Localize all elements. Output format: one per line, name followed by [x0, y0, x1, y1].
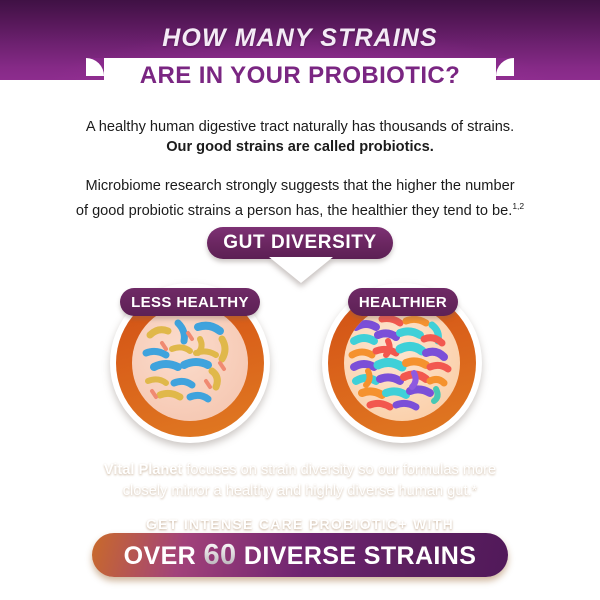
infographic-page: HOW MANY STRAINS ARE IN YOUR PROBIOTIC? … [0, 0, 600, 600]
footer-copy-line-one: Vital Planet focuses on strain diversity… [55, 460, 545, 481]
headline-bottom: ARE IN YOUR PROBIOTIC? [104, 62, 496, 90]
paragraph-two-line-one: Microbiome research strongly suggests th… [30, 176, 570, 196]
footer-copy: Vital Planet focuses on strain diversity… [55, 460, 545, 502]
dish-contents-right [344, 305, 460, 421]
paragraph-one-bold: Our good strains are called probiotics. [166, 139, 434, 155]
cta-kicker: GET INTENSE CARE PROBIOTIC+ WITH [60, 516, 540, 532]
cta-text-after: DIVERSE STRAINS [237, 542, 477, 570]
callout-pointer-icon [269, 257, 333, 283]
dish-label-healthier: HEALTHIER [348, 288, 458, 316]
bacteria-dense-illustration [344, 305, 460, 421]
paragraph-one-line-two: Our good strains are called probiotics. [30, 137, 570, 157]
gut-diversity-callout: GUT DIVERSITY [207, 227, 393, 259]
gut-diversity-badge: GUT DIVERSITY [207, 227, 393, 259]
paragraph-two-line-two: of good probiotic strains a person has, … [30, 196, 570, 221]
paragraph-two-text: of good probiotic strains a person has, … [76, 203, 512, 219]
paragraph-one-line-one: A healthy human digestive tract naturall… [30, 117, 570, 137]
paragraph-two: Microbiome research strongly suggests th… [30, 176, 570, 221]
footnote-superscript: 1,2 [512, 201, 524, 211]
cta-banner[interactable]: OVER 60 DIVERSE STRAINS [92, 533, 508, 577]
dish-label-left-text: LESS HEALTHY [131, 294, 249, 311]
dish-contents-left [132, 305, 248, 421]
cta-text: OVER 60 DIVERSE STRAINS [124, 539, 477, 572]
brand-name: Vital Planet [104, 462, 182, 478]
footer-copy-rest: focuses on strain diversity so our formu… [182, 462, 496, 478]
cta-text-before: OVER [124, 542, 204, 570]
dish-label-right-text: HEALTHIER [359, 294, 447, 311]
dish-label-less-healthy: LESS HEALTHY [120, 288, 260, 316]
headline-top: HOW MANY STRAINS [0, 24, 600, 53]
paragraph-one: A healthy human digestive tract naturall… [30, 117, 570, 157]
cta-strain-count: 60 [203, 539, 236, 571]
bacteria-sparse-illustration [132, 305, 248, 421]
gut-diversity-label: GUT DIVERSITY [223, 232, 376, 254]
footer-copy-line-two: closely mirror a healthy and highly dive… [55, 481, 545, 502]
